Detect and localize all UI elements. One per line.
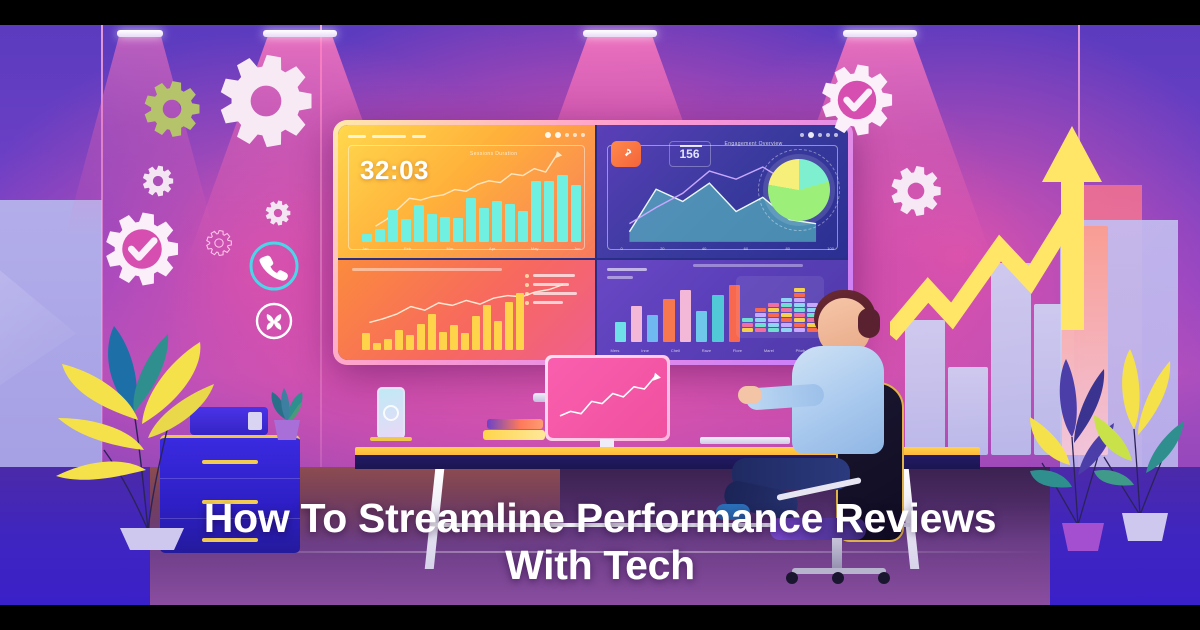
axis-tick-label: Chell bbox=[671, 348, 680, 353]
bar bbox=[406, 335, 414, 350]
kpi-value: 156 bbox=[669, 141, 711, 167]
bar bbox=[373, 343, 381, 350]
axis-tick-label: 20 bbox=[660, 246, 664, 251]
bar bbox=[505, 302, 513, 350]
bar bbox=[395, 330, 403, 350]
spotlight-bar bbox=[263, 30, 337, 37]
gear-check-icon-right bbox=[820, 63, 894, 137]
revenue-bar-line-panel bbox=[338, 260, 595, 360]
book bbox=[487, 419, 543, 429]
axis-tick-label: Feb bbox=[404, 246, 411, 251]
hand bbox=[738, 386, 762, 404]
line-arrow-head bbox=[653, 373, 661, 381]
axis-tick-label: Apr bbox=[489, 246, 495, 251]
spotlight-bar bbox=[843, 30, 917, 37]
gear-icon-right bbox=[890, 165, 942, 217]
axis-tick-label: Jan bbox=[362, 246, 368, 251]
bar bbox=[417, 324, 425, 350]
axis-tick-label: May bbox=[531, 246, 539, 251]
bar bbox=[384, 339, 392, 350]
illustration-canvas: 32:03 Sessions Duration JanFebMarAprMayJ… bbox=[0, 0, 1200, 630]
chart-line bbox=[560, 377, 655, 416]
bar bbox=[615, 322, 626, 342]
bar bbox=[680, 290, 691, 342]
bar bbox=[531, 181, 541, 242]
bar bbox=[440, 217, 450, 242]
dot-icon[interactable] bbox=[573, 133, 577, 137]
bar bbox=[453, 218, 463, 242]
bar bbox=[712, 295, 723, 342]
axis-tick-label: 100 bbox=[827, 246, 834, 251]
bar bbox=[571, 185, 581, 242]
bar-series bbox=[362, 284, 525, 350]
trend-line-chart bbox=[548, 358, 667, 438]
close-x-icon[interactable] bbox=[254, 301, 294, 341]
bar bbox=[414, 205, 424, 242]
book bbox=[483, 430, 545, 440]
bar bbox=[516, 293, 524, 350]
bar bbox=[518, 211, 528, 241]
bar bbox=[375, 229, 385, 242]
title-line-1: How To Streamline Performance Reviews bbox=[110, 495, 1090, 542]
panel-toolbar bbox=[348, 131, 585, 141]
axis-tick-label: 0 bbox=[621, 246, 623, 251]
x-axis-labels: JanFebMarAprMayJun bbox=[362, 246, 581, 251]
bar bbox=[388, 210, 398, 241]
bar bbox=[494, 321, 502, 350]
gear-icon-tiny bbox=[265, 200, 291, 226]
pencil-icon[interactable] bbox=[565, 133, 569, 137]
legend-dot bbox=[525, 292, 529, 296]
circle-icon[interactable] bbox=[555, 132, 561, 138]
gear-icon-outline bbox=[206, 230, 232, 256]
menu-icon[interactable] bbox=[800, 133, 804, 137]
axis-tick-label: Mers bbox=[611, 348, 620, 353]
gear-icon-small-white bbox=[142, 165, 174, 197]
panel-caption: Engagement Overview bbox=[725, 141, 783, 147]
bar bbox=[557, 175, 567, 241]
bar-series bbox=[615, 280, 741, 342]
axis-tick-label: Inne bbox=[641, 348, 649, 353]
bar bbox=[401, 219, 411, 241]
title-line-2: With Tech bbox=[110, 542, 1090, 589]
hair-back bbox=[858, 308, 880, 338]
secondary-screen bbox=[548, 358, 667, 438]
bar bbox=[428, 314, 436, 350]
bar bbox=[663, 299, 674, 342]
legend-dot bbox=[525, 274, 529, 278]
axis-tick-label: 40 bbox=[702, 246, 706, 251]
bar bbox=[492, 201, 502, 241]
legend-dot bbox=[525, 301, 529, 305]
gear-icon-olive bbox=[143, 80, 201, 138]
bar bbox=[544, 181, 554, 242]
bar bbox=[505, 204, 515, 242]
bar bbox=[427, 214, 437, 242]
area-pie-panel: 156 Engagement Overview 020406080100 bbox=[597, 125, 849, 258]
toolbar-icons[interactable] bbox=[545, 132, 585, 138]
panel-toolbar bbox=[607, 131, 839, 141]
secondary-monitor[interactable] bbox=[545, 355, 670, 441]
bar bbox=[362, 234, 372, 241]
gear-check-icon bbox=[104, 211, 180, 287]
circle-icon[interactable] bbox=[545, 132, 551, 138]
phone-icon[interactable] bbox=[248, 240, 300, 292]
x-axis-labels: 020406080100 bbox=[621, 246, 835, 251]
axis-tick-label: Jun bbox=[574, 246, 580, 251]
spotlight-bar bbox=[583, 30, 657, 37]
bar bbox=[461, 333, 469, 350]
axis-tick-label: 80 bbox=[785, 246, 789, 251]
bar bbox=[472, 316, 480, 350]
pie-chart bbox=[768, 159, 830, 221]
page-title: How To Streamline Performance Reviews Wi… bbox=[0, 495, 1200, 589]
phone-stand bbox=[370, 437, 412, 441]
plant-left-small bbox=[258, 380, 316, 442]
bar-series bbox=[362, 150, 581, 242]
axis-tick-label: 60 bbox=[744, 246, 748, 251]
bar bbox=[479, 208, 489, 241]
bar bbox=[466, 198, 476, 241]
spotlight-bar bbox=[117, 30, 163, 37]
bar bbox=[647, 315, 658, 342]
circle-icon[interactable] bbox=[808, 132, 814, 138]
bar bbox=[362, 333, 370, 350]
bar bbox=[483, 305, 491, 350]
rocket-icon[interactable] bbox=[611, 141, 641, 167]
legend bbox=[525, 274, 585, 310]
bar bbox=[450, 325, 458, 350]
axis-tick-label: Mar bbox=[447, 246, 454, 251]
gear-icon-large-white bbox=[218, 53, 314, 149]
bar bbox=[439, 332, 447, 350]
smartphone-on-stand[interactable] bbox=[377, 387, 405, 439]
bar bbox=[696, 311, 707, 342]
axis-tick-label: Raze bbox=[702, 348, 711, 353]
legend-dot bbox=[525, 283, 529, 287]
timer-bar-chart-panel: 32:03 Sessions Duration JanFebMarAprMayJ… bbox=[338, 125, 595, 258]
dot-icon[interactable] bbox=[581, 133, 585, 137]
bar bbox=[631, 306, 642, 342]
